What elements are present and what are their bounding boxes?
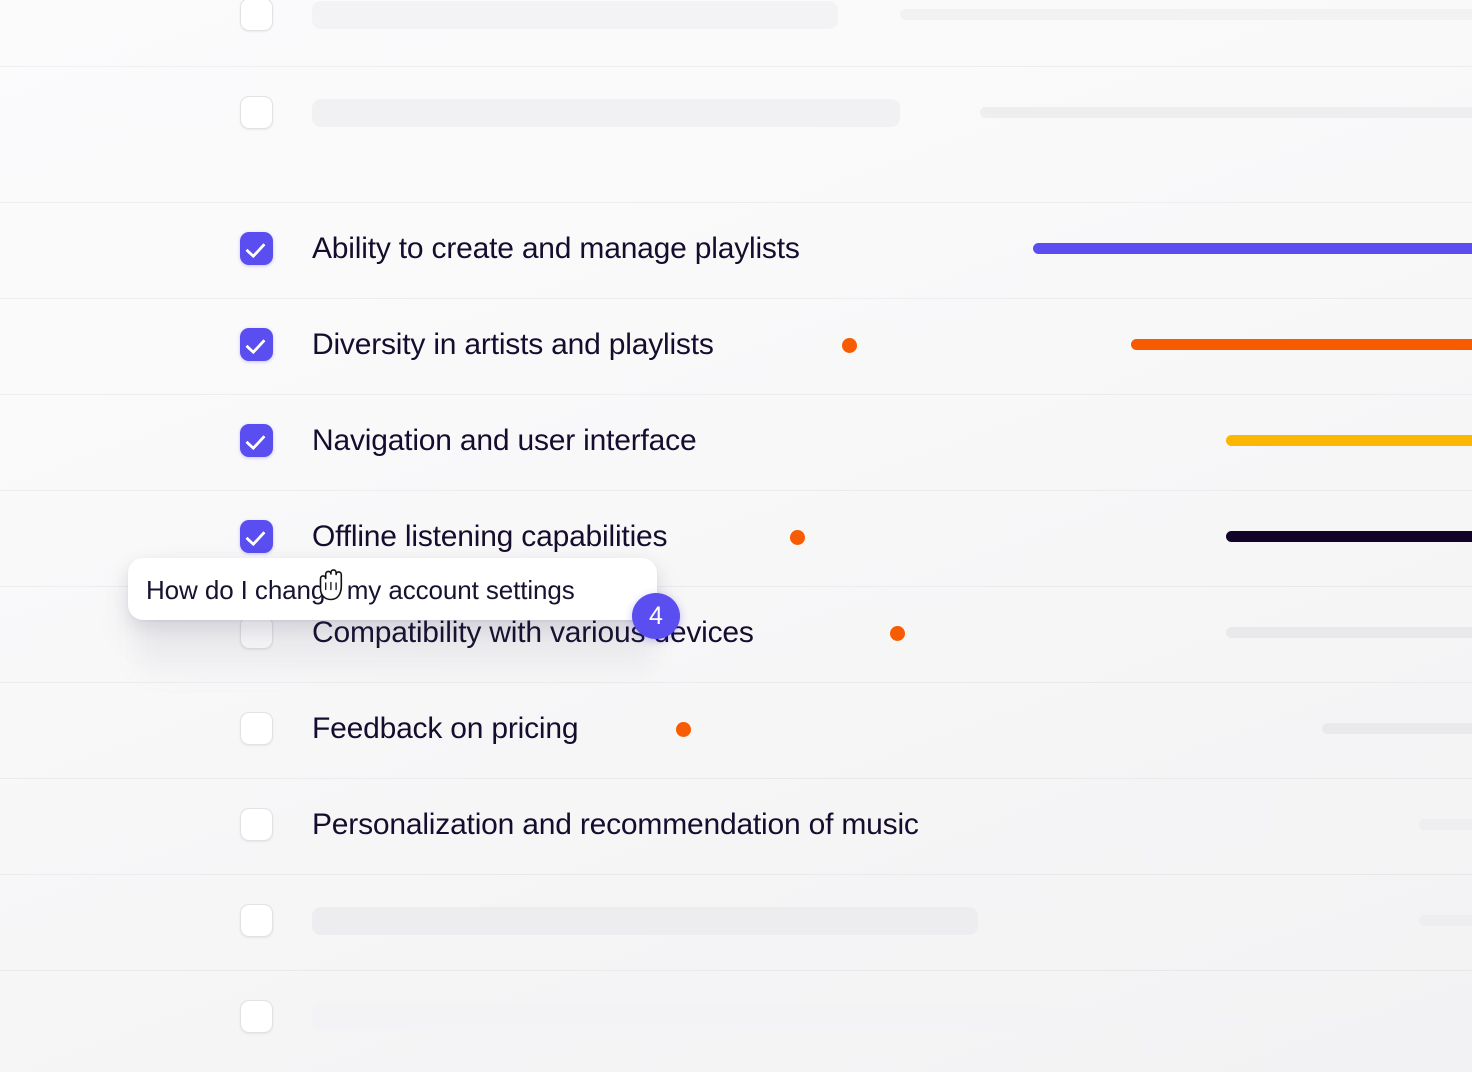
row-value-bar-yellow: [1226, 435, 1472, 446]
row-checkbox-checked[interactable]: [240, 232, 273, 265]
row-divider: [0, 66, 1472, 67]
row-value-bar: [980, 107, 1472, 118]
list-row-playlists[interactable]: Ability to create and manage playlists: [0, 202, 1472, 298]
drag-count-badge: 4: [632, 593, 680, 639]
row-value-bar-dark: [1226, 531, 1472, 542]
list-row[interactable]: [0, 970, 1472, 1066]
list-row[interactable]: [0, 66, 1472, 162]
row-checkbox-checked[interactable]: [240, 424, 273, 457]
row-label-placeholder: [312, 907, 978, 935]
row-checkbox-checked[interactable]: [240, 520, 273, 553]
row-label-placeholder: [312, 99, 900, 127]
row-divider: [0, 970, 1472, 971]
row-value-bar: [1419, 915, 1472, 926]
list-row-personalization[interactable]: Personalization and recommendation of mu…: [0, 778, 1472, 874]
row-value-bar: [1322, 723, 1472, 734]
row-divider: [0, 778, 1472, 779]
row-value-bar: [1419, 819, 1472, 830]
row-checkbox[interactable]: [240, 1000, 273, 1033]
row-label: Navigation and user interface: [312, 422, 696, 460]
list-row-pricing[interactable]: Feedback on pricing: [0, 682, 1472, 778]
dragged-question-card[interactable]: How do I change my account settings: [128, 558, 657, 620]
row-checkbox[interactable]: [240, 96, 273, 129]
row-value-bar: [1226, 627, 1472, 638]
feedback-topics-list: Ability to create and manage playlists D…: [0, 0, 1472, 1072]
row-divider: [0, 394, 1472, 395]
row-value-bar-purple: [1033, 243, 1472, 254]
row-divider: [0, 490, 1472, 491]
row-checkbox[interactable]: [240, 0, 273, 31]
row-label-placeholder: [312, 1003, 1080, 1031]
row-divider: [0, 298, 1472, 299]
row-checkbox[interactable]: [240, 904, 273, 937]
row-label: Diversity in artists and playlists: [312, 326, 714, 364]
row-label: Feedback on pricing: [312, 710, 578, 748]
dragged-question-text: How do I change my account settings: [146, 574, 575, 606]
row-label: Offline listening capabilities: [312, 518, 667, 556]
unread-dot-icon: [890, 626, 905, 641]
row-value-bar: [1450, 1011, 1472, 1022]
list-row[interactable]: [0, 874, 1472, 970]
row-label: Personalization and recommendation of mu…: [312, 806, 919, 844]
row-checkbox[interactable]: [240, 712, 273, 745]
row-label-placeholder: [312, 1, 838, 29]
list-row[interactable]: [0, 0, 1472, 64]
row-checkbox-checked[interactable]: [240, 328, 273, 361]
unread-dot-icon: [676, 722, 691, 737]
list-row-navigation[interactable]: Navigation and user interface: [0, 394, 1472, 490]
row-value-bar-orange: [1131, 339, 1472, 350]
row-divider: [0, 874, 1472, 875]
row-label: Ability to create and manage playlists: [312, 230, 800, 268]
row-divider: [0, 202, 1472, 203]
unread-dot-icon: [790, 530, 805, 545]
row-checkbox[interactable]: [240, 808, 273, 841]
row-value-bar: [900, 9, 1472, 20]
unread-dot-icon: [842, 338, 857, 353]
list-row-diversity[interactable]: Diversity in artists and playlists: [0, 298, 1472, 394]
row-divider: [0, 682, 1472, 683]
